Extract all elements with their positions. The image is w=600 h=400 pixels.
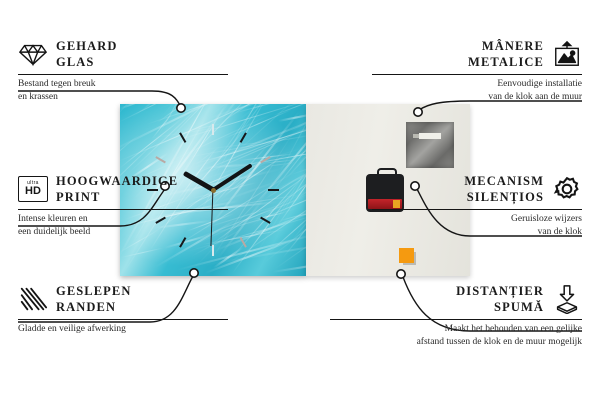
feature-distantier-spuma: DISTANȚIERSPUMĂ Maakt het behouden van e… — [330, 283, 582, 349]
gear-icon — [552, 174, 582, 204]
feature-description: Maakt het behouden van een gelijkeafstan… — [330, 323, 582, 349]
feature-title-row: GESLEPENRANDEN — [18, 283, 228, 315]
diamond-icon — [18, 39, 48, 69]
divider — [18, 209, 228, 210]
infographic-canvas: GEHARDGLAS Bestand tegen breuken krassen… — [0, 0, 600, 400]
feature-title: MÂNEREMETALICE — [468, 38, 544, 70]
feature-title-row: MECANISMSILENȚIOS — [372, 173, 582, 205]
feature-title: GEHARDGLAS — [56, 38, 117, 70]
feature-title-row: DISTANȚIERSPUMĂ — [330, 283, 582, 315]
picture-hanger-icon — [552, 39, 582, 69]
divider — [372, 74, 582, 75]
feature-title: MECANISMSILENȚIOS — [464, 173, 544, 205]
feature-gehard-glas: GEHARDGLAS Bestand tegen breuken krassen — [18, 38, 228, 104]
feature-title: GESLEPENRANDEN — [56, 283, 132, 315]
feature-manere-metalice: MÂNEREMETALICE Eenvoudige installatievan… — [372, 38, 582, 104]
feature-description: Bestand tegen breuken krassen — [18, 78, 228, 104]
divider — [372, 209, 582, 210]
ultra-hd-icon-main-label: HD — [25, 186, 41, 197]
feature-title: DISTANȚIERSPUMĂ — [456, 283, 544, 315]
feature-title-row: GEHARDGLAS — [18, 38, 228, 70]
feature-hoogwaardige-print: ultra HD HOOGWAARDIGEPRINT Intense kleur… — [18, 173, 228, 239]
feature-title: HOOGWAARDIGEPRINT — [56, 173, 178, 205]
spacer-stack-icon — [552, 284, 582, 314]
feature-title-row: MÂNEREMETALICE — [372, 38, 582, 70]
divider — [18, 319, 228, 320]
feature-geslepen-randen: GESLEPENRANDEN Gladde en veilige afwerki… — [18, 283, 228, 336]
feature-mecanism-silentios: MECANISMSILENȚIOS Geruisloze wijzersvan … — [372, 173, 582, 239]
foam-spacer-icon — [399, 248, 414, 263]
metal-hanger-plate-icon — [406, 122, 454, 168]
beveled-edges-icon — [18, 284, 48, 314]
feature-description: Intense kleuren eneen duidelijk beeld — [18, 213, 228, 239]
feature-description: Eenvoudige installatievan de klok aan de… — [372, 78, 582, 104]
feature-description: Geruisloze wijzersvan de klok — [372, 213, 582, 239]
divider — [330, 319, 582, 320]
ultra-hd-icon: ultra HD — [18, 176, 48, 202]
feature-title-row: ultra HD HOOGWAARDIGEPRINT — [18, 173, 228, 205]
divider — [18, 74, 228, 75]
feature-description: Gladde en veilige afwerking — [18, 323, 228, 336]
